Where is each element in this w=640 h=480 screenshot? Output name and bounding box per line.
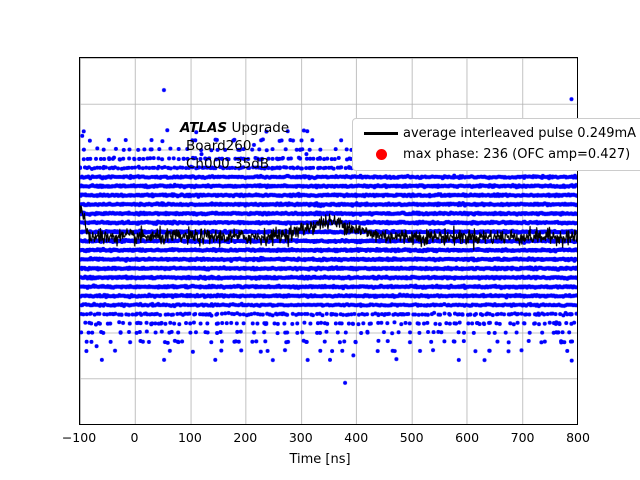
atlas-label: ATLAS xyxy=(180,120,227,136)
annotation-board: Board260 xyxy=(180,138,289,156)
x-tick-label-7: 600 xyxy=(455,430,479,445)
legend-dot-key-icon xyxy=(359,149,403,160)
x-tick-label-3: 200 xyxy=(233,430,257,445)
x-tick-label-1: 0 xyxy=(130,430,138,445)
plot-annotation: ATLAS Upgrade Board260 Ch000 35dB xyxy=(180,120,289,173)
legend-entry-max-phase: max phase: 236 (OFC amp=0.427) xyxy=(359,144,640,165)
x-axis-label: Time [ns] xyxy=(0,452,640,467)
legend-line-key-icon xyxy=(359,132,403,135)
annotation-experiment-line: ATLAS Upgrade xyxy=(180,120,289,138)
figure-canvas: −20−15−10−505101520 −1000100200300400500… xyxy=(0,0,640,480)
x-tick-label-9: 800 xyxy=(566,430,590,445)
plot-axes: ATLAS Upgrade Board260 Ch000 35dB averag… xyxy=(79,57,578,425)
legend-entry-average-pulse: average interleaved pulse 0.249mA xyxy=(359,123,640,144)
x-tick-label-6: 500 xyxy=(400,430,424,445)
x-tick-label-5: 400 xyxy=(344,430,368,445)
upgrade-label: Upgrade xyxy=(231,120,289,136)
x-tick-label-0: −100 xyxy=(62,430,96,445)
annotation-channel: Ch000 35dB xyxy=(180,156,289,174)
x-tick-label-2: 100 xyxy=(178,430,202,445)
legend-label-average-pulse: average interleaved pulse 0.249mA xyxy=(403,126,636,141)
plot-legend[interactable]: average interleaved pulse 0.249mA max ph… xyxy=(352,118,640,171)
scatter-plot-canvas xyxy=(80,58,577,424)
x-tick-label-4: 300 xyxy=(289,430,313,445)
legend-label-max-phase: max phase: 236 (OFC amp=0.427) xyxy=(403,147,630,162)
x-tick-label-8: 700 xyxy=(511,430,535,445)
